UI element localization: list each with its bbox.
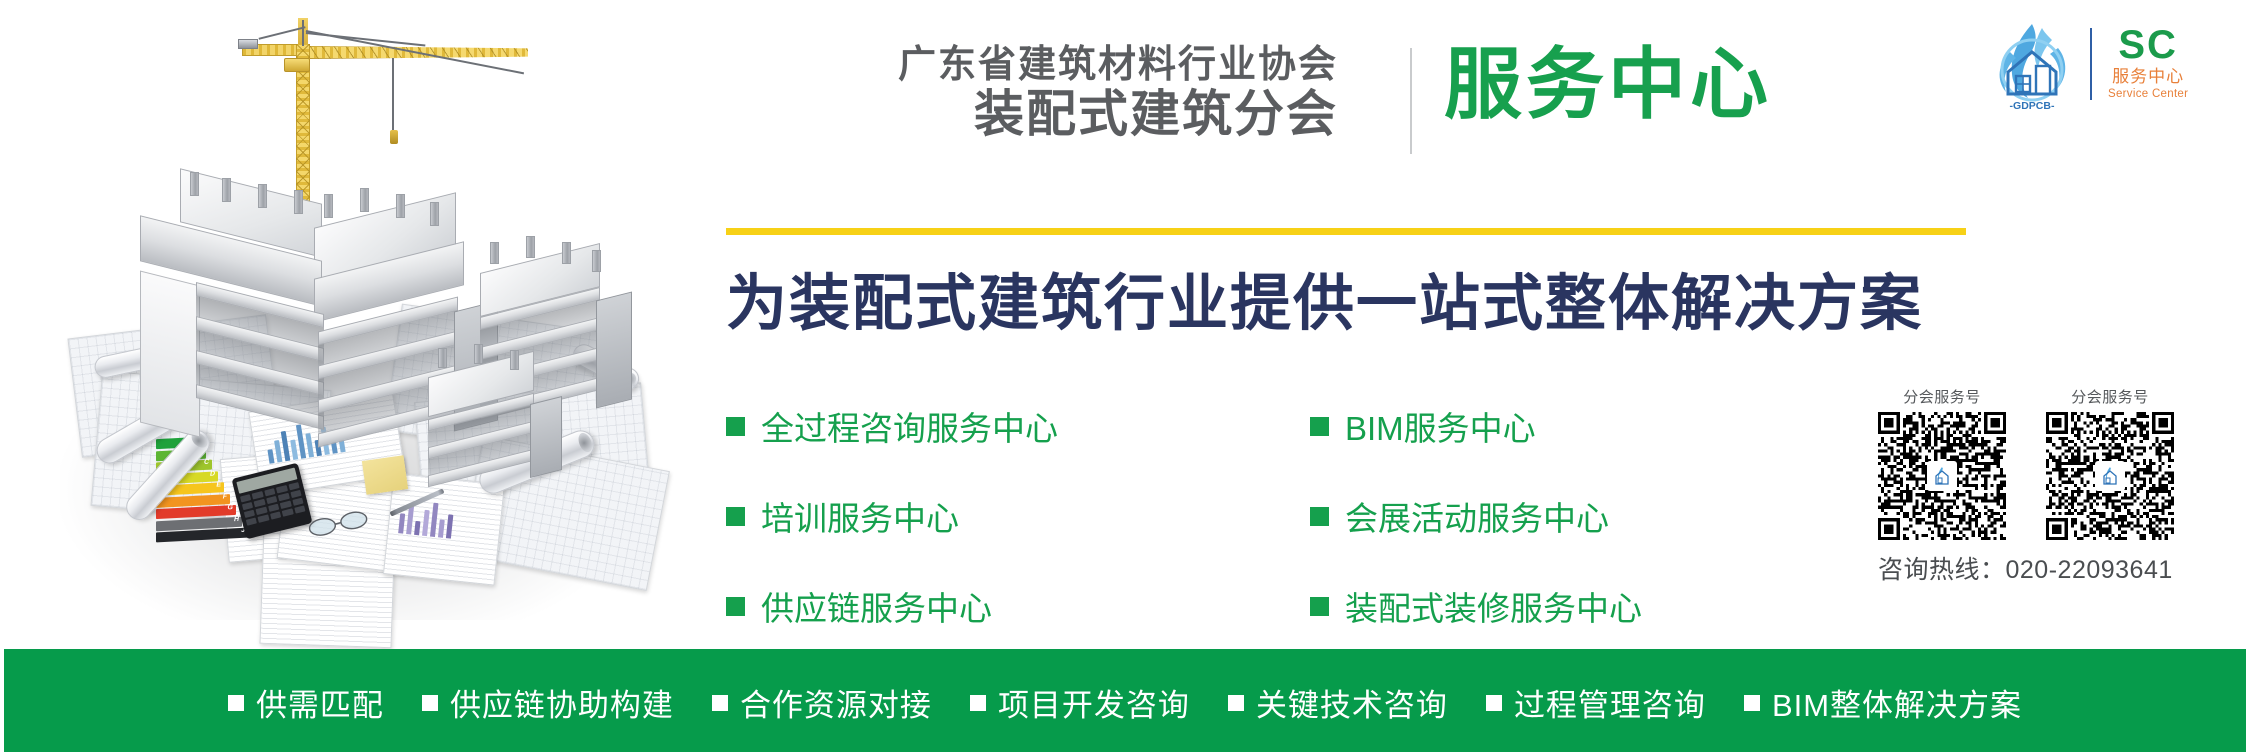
association-name-line1: 广东省建筑材料行业协会 — [726, 46, 1338, 86]
square-bullet-icon — [1744, 695, 1760, 711]
square-bullet-icon — [1310, 417, 1329, 436]
bottom-tag[interactable]: BIM整体解决方案 — [1744, 680, 2022, 725]
service-item[interactable]: 会展活动服务中心 — [1310, 492, 1826, 540]
service-item-label: BIM服务中心 — [1345, 402, 1536, 450]
service-center-list: 全过程咨询服务中心 BIM服务中心 培训服务中心 会展活动服务中心 供应链服务中… — [726, 402, 1826, 630]
service-item-label: 会展活动服务中心 — [1345, 492, 1609, 540]
square-bullet-icon — [228, 695, 244, 711]
sc-chinese-label: 服务中心 — [2108, 66, 2188, 87]
title-divider — [1410, 48, 1412, 154]
bottom-tag[interactable]: 过程管理咨询 — [1486, 680, 1706, 725]
logo-block[interactable]: -GDPCB- SC 服务中心 Service Center — [1980, 18, 2232, 110]
construction-hero-image: ABCDEFGHJ — [0, 0, 690, 650]
association-name-line2: 装配式建筑分会 — [726, 88, 1338, 141]
service-item[interactable]: BIM服务中心 — [1310, 402, 1826, 450]
service-item[interactable]: 装配式装修服务中心 — [1310, 582, 1826, 630]
qr-code-caption: 分会服务号 — [2046, 386, 2174, 407]
service-item-label: 供应链服务中心 — [761, 582, 992, 630]
service-item[interactable]: 培训服务中心 — [726, 492, 1310, 540]
bottom-tag[interactable]: 合作资源对接 — [712, 680, 932, 725]
qr-code-image[interactable] — [1878, 412, 2006, 540]
square-bullet-icon — [970, 695, 986, 711]
bottom-tag-label: 项目开发咨询 — [998, 680, 1190, 725]
qr-contact-block: 分会服务号 分会服务号 — [1878, 386, 2226, 586]
square-bullet-icon — [726, 597, 745, 616]
qr-code-cell[interactable]: 分会服务号 — [2046, 386, 2174, 540]
sc-english-label: Service Center — [2108, 88, 2188, 102]
bottom-tag-bar: 供需匹配 供应链协助构建 合作资源对接 项目开发咨询 关键技术咨询 过程管理咨询… — [4, 649, 2246, 752]
bottom-tag-label: 关键技术咨询 — [1256, 680, 1448, 725]
banner-root: ABCDEFGHJ — [0, 0, 2246, 752]
square-bullet-icon — [712, 695, 728, 711]
gdpcb-caption: -GDPCB- — [2010, 100, 2055, 110]
logo-separator — [2090, 28, 2092, 100]
qr-code-cell[interactable]: 分会服务号 — [1878, 386, 2006, 540]
gdpcb-leaf-house-logo-icon: -GDPCB- — [1980, 18, 2084, 110]
service-item[interactable]: 供应链服务中心 — [726, 582, 1310, 630]
service-item[interactable]: 全过程咨询服务中心 — [726, 402, 1310, 450]
association-name: 广东省建筑材料行业协会 装配式建筑分会 — [726, 46, 1338, 140]
square-bullet-icon — [726, 507, 745, 526]
qr-center-logo-icon — [2095, 461, 2125, 491]
energy-grade-letter: C — [204, 459, 209, 466]
sc-abbr: SC — [2108, 26, 2188, 64]
bottom-tag[interactable]: 项目开发咨询 — [970, 680, 1190, 725]
energy-grade-letter: F — [223, 493, 227, 500]
building-front-right — [420, 358, 580, 508]
energy-grade-letter: H — [234, 515, 239, 522]
bottom-tag-label: 供需匹配 — [256, 680, 384, 725]
bottom-tag-label: 供应链协助构建 — [450, 680, 674, 725]
gold-divider-rule — [726, 228, 1966, 235]
qr-code-caption: 分会服务号 — [1878, 386, 2006, 407]
bottom-tag[interactable]: 关键技术咨询 — [1228, 680, 1448, 725]
square-bullet-icon — [1228, 695, 1244, 711]
service-center-title: 服务中心 — [1444, 42, 1772, 128]
bottom-tag-label: BIM整体解决方案 — [1772, 680, 2022, 725]
service-item-label: 培训服务中心 — [761, 492, 959, 540]
energy-grade-letter: G — [228, 504, 233, 511]
sc-service-center-mark: SC 服务中心 Service Center — [2108, 26, 2188, 101]
bottom-tag-label: 过程管理咨询 — [1514, 680, 1706, 725]
square-bullet-icon — [1310, 597, 1329, 616]
square-bullet-icon — [1310, 507, 1329, 526]
bottom-tag[interactable]: 供需匹配 — [228, 680, 384, 725]
qr-code-row: 分会服务号 分会服务号 — [1878, 386, 2226, 540]
bottom-tag[interactable]: 供应链协助构建 — [422, 680, 674, 725]
square-bullet-icon — [1486, 695, 1502, 711]
square-bullet-icon — [726, 417, 745, 436]
qr-code-image[interactable] — [2046, 412, 2174, 540]
energy-grade-letter: E — [216, 481, 221, 488]
hotline-text: 咨询热线：020-22093641 — [1878, 550, 2226, 586]
sticky-note — [362, 455, 408, 495]
qr-center-logo-icon — [1927, 461, 1957, 491]
energy-grade-letter: D — [210, 470, 215, 477]
page-headline: 为装配式建筑行业提供一站式整体解决方案 — [726, 253, 1923, 342]
service-item-label: 全过程咨询服务中心 — [761, 402, 1058, 450]
square-bullet-icon — [422, 695, 438, 711]
bottom-tag-label: 合作资源对接 — [740, 680, 932, 725]
service-item-label: 装配式装修服务中心 — [1345, 582, 1642, 630]
